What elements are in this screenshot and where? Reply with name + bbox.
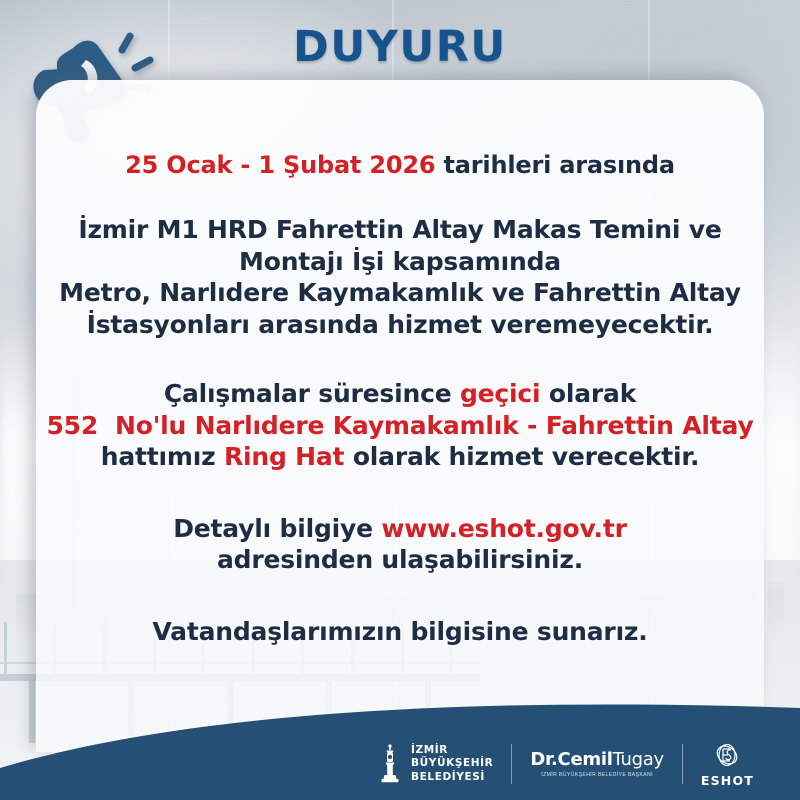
- mayor-last-name: Tugay: [613, 749, 664, 770]
- mayor-name: Dr.CemilTugay: [530, 751, 664, 769]
- ring-line3-prefix: hattımız: [101, 442, 224, 471]
- website-url[interactable]: www.eshot.gov.tr: [381, 514, 626, 543]
- footer-bar: İZMİR BÜYÜKŞEHİR BELEDİYESİ Dr.CemilTuga…: [0, 690, 800, 800]
- ring-line-1: Çalışmalar süresince geçici olarak: [36, 378, 764, 410]
- website-line-1: Detaylı bilgiye www.eshot.gov.tr: [36, 513, 764, 545]
- ring-line3-highlight: Ring Hat: [224, 442, 344, 471]
- izmir-municipality-text: İZMİR BÜYÜKŞEHİR BELEDİYESİ: [411, 744, 493, 783]
- main-line-3: Metro, Narlıdere Kaymakamlık ve Fahretti…: [36, 277, 764, 309]
- ring-line-3: hattımız Ring Hat olarak hizmet verecekt…: [36, 441, 764, 473]
- main-line-2: Montajı İşi kapsamında: [36, 246, 764, 278]
- izmir-municipality-logo: İZMİR BÜYÜKŞEHİR BELEDİYESİ: [359, 741, 511, 787]
- eshot-monogram-icon: [712, 740, 742, 770]
- eshot-logo: ESHOT: [683, 741, 772, 787]
- ring-route-line: 552 No'lu Narlıdere Kaymakamlık - Fahret…: [36, 410, 764, 442]
- announcement-body: 25 Ocak - 1 Şubat 2026 tarihleri arasınd…: [36, 150, 764, 657]
- ibb-line-3: BELEDİYESİ: [411, 771, 493, 784]
- ring-paragraph: Çalışmalar süresince geçici olarak 552 N…: [36, 378, 764, 473]
- mayor-subtitle: İZMİR BÜYÜKŞEHİR BELEDİYE BAŞKANI: [530, 772, 664, 778]
- page-title: DUYURU: [0, 22, 800, 72]
- main-paragraph: İzmir M1 HRD Fahrettin Altay Makas Temin…: [36, 214, 764, 340]
- mayor-first-name: Cemil: [558, 749, 613, 770]
- date-line: 25 Ocak - 1 Şubat 2026 tarihleri arasınd…: [36, 150, 764, 180]
- closing-paragraph: Vatandaşlarımızın bilgisine sunarız.: [36, 616, 764, 648]
- ring-line1-suffix: olarak: [540, 379, 636, 408]
- announcement-poster: DUYURU 25 Ocak - 1 Şubat 2026 tarihleri …: [0, 0, 800, 800]
- ring-line1-highlight: geçici: [460, 379, 540, 408]
- website-paragraph: Detaylı bilgiye www.eshot.gov.tr adresin…: [36, 513, 764, 576]
- mayor-logo: Dr.CemilTugay İZMİR BÜYÜKŞEHİR BELEDİYE …: [512, 741, 682, 787]
- ring-line3-suffix: olarak hizmet verecektir.: [344, 442, 699, 471]
- main-line-4: İstasyonları arasında hizmet veremeyecek…: [36, 309, 764, 341]
- website-line-2: adresinden ulaşabilirsiniz.: [36, 544, 764, 576]
- ring-line1-prefix: Çalışmalar süresince: [164, 379, 460, 408]
- ibb-line-1: İZMİR: [411, 744, 493, 757]
- saat-kulesi-icon: [377, 743, 403, 785]
- closing-line: Vatandaşlarımızın bilgisine sunarız.: [36, 616, 764, 648]
- main-line-1: İzmir M1 HRD Fahrettin Altay Makas Temin…: [36, 214, 764, 246]
- date-range: 25 Ocak - 1 Şubat 2026: [125, 151, 435, 179]
- ibb-line-2: BÜYÜKŞEHİR: [411, 757, 493, 770]
- date-suffix: tarihleri arasında: [435, 151, 675, 179]
- eshot-label: ESHOT: [701, 773, 754, 788]
- website-prefix: Detaylı bilgiye: [173, 514, 381, 543]
- mayor-prefix: Dr.: [530, 749, 557, 770]
